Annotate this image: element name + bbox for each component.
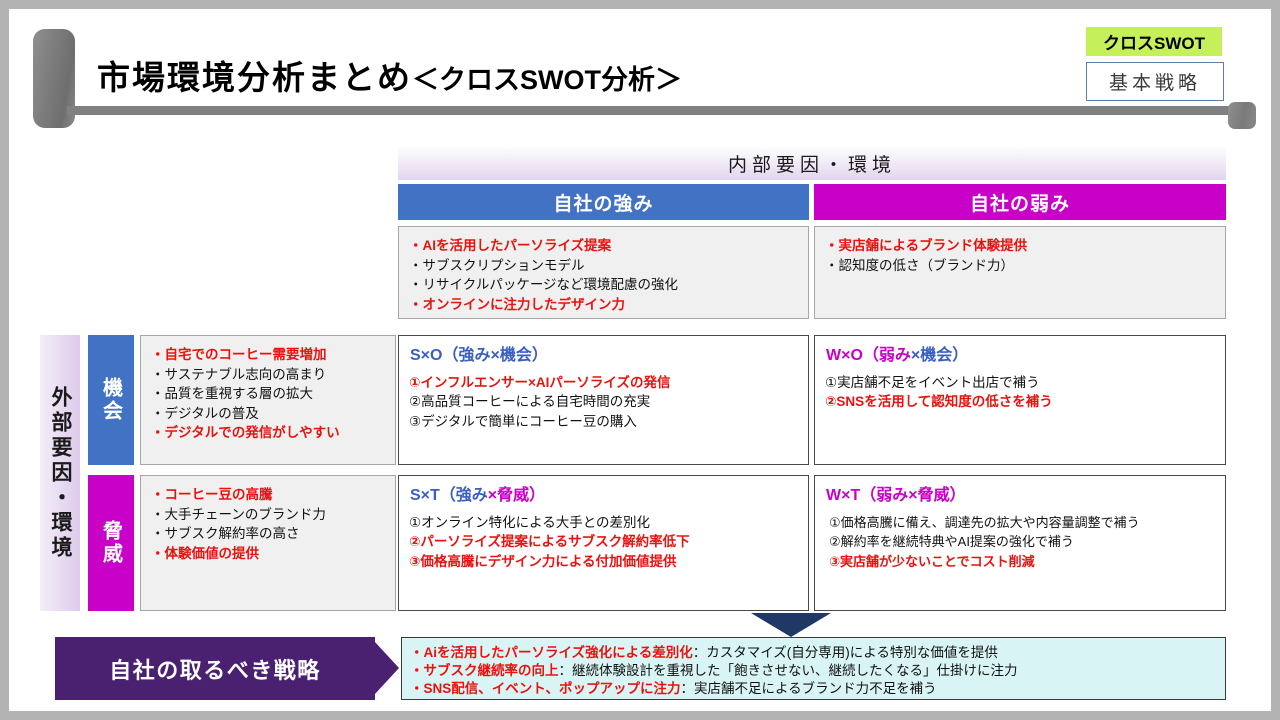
list-item: ・サブスクリプションモデル	[409, 256, 798, 276]
list-item: ③デジタルで簡単にコーヒー豆の購入	[409, 412, 798, 432]
quadrant-st-heading: S×T（強み×脅威）	[410, 486, 798, 506]
list-item: ・認知度の低さ（ブランド力）	[825, 256, 1215, 276]
header-right-knob-decoration	[1228, 102, 1256, 129]
external-axis-header-label: 外部要因・環境	[45, 386, 75, 561]
quadrant-strength-threat: S×T（強み×脅威） ①オンライン特化による大手との差別化②パーソライズ提案によ…	[398, 475, 809, 611]
quadrant-st-list: ①オンライン特化による大手との差別化②パーソライズ提案によるサブスク解約率低下③…	[409, 513, 798, 572]
quadrant-heading-secondary: ×脅威）	[488, 487, 545, 504]
cell-opportunities: ・自宅でのコーヒー需要増加・サステナブル志向の高まり・品質を重視する層の拡大・デ…	[140, 335, 396, 465]
quadrant-heading-primary: S×T（強み	[410, 487, 488, 504]
row-header-opportunity-label: 機会	[97, 377, 126, 423]
weakness-list: ・実店舗によるブランド体験提供・認知度の低さ（ブランド力）	[825, 236, 1215, 275]
page-title-main: 市場環境分析まとめ	[97, 59, 412, 96]
page-title-sub: ＜クロスSWOT分析＞	[412, 65, 682, 95]
list-item: ・リサイクルパッケージなど環境配慮の強化	[409, 275, 798, 295]
list-item: ①実店舗不足をイベント出店で補う	[825, 373, 1215, 393]
threat-list: ・コーヒー豆の高騰・大手チェーンのブランド力・サブスク解約率の高さ・体験価値の提…	[151, 485, 385, 563]
list-item: ②SNSを活用して認知度の低さを補う	[825, 392, 1215, 412]
cell-strengths: ・AIを活用したパーソライズ提案・サブスクリプションモデル・リサイクルパッケージ…	[398, 226, 809, 319]
row-header-threat: 脅威	[88, 475, 134, 611]
strategy-item-lead: ・SNS配信、イベント、ポップアップに注力	[410, 681, 681, 696]
badge-basic-strategy: 基本戦略	[1086, 62, 1224, 101]
quadrant-weakness-opportunity: W×O（弱み×機会） ①実店舗不足をイベント出店で補う②SNSを活用して認知度の…	[814, 335, 1226, 465]
quadrant-heading-primary: S×O（強み	[410, 347, 490, 364]
row-header-opportunity: 機会	[88, 335, 134, 465]
quadrant-heading-primary: W×O（弱み	[826, 347, 911, 364]
list-item: ・サステナブル志向の高まり	[151, 365, 385, 385]
external-axis-header: 外部要因・環境	[40, 335, 80, 611]
strategy-item-lead: ・サブスク継続率の向上	[410, 663, 559, 678]
quadrant-wo-heading: W×O（弱み×機会）	[826, 346, 1215, 366]
list-item: ①オンライン特化による大手との差別化	[409, 513, 798, 533]
quadrant-so-list: ①インフルエンサー×AIパーソライズの発信②高品質コーヒーによる自宅時間の充実③…	[409, 373, 798, 432]
list-item: ・AIを活用したパーソライズ提案	[409, 236, 798, 256]
cell-weaknesses: ・実店舗によるブランド体験提供・認知度の低さ（ブランド力）	[814, 226, 1226, 319]
quadrant-heading-secondary: ×機会）	[490, 347, 547, 364]
list-item: ・サブスク解約率の高さ	[151, 524, 385, 544]
page-title: 市場環境分析まとめ＜クロスSWOT分析＞	[97, 52, 997, 104]
strategy-label: 自社の取るべき戦略	[55, 637, 375, 700]
strategy-item-lead: ・Aiを活用したパーソライズ強化による差別化	[410, 645, 693, 660]
opportunity-list: ・自宅でのコーヒー需要増加・サステナブル志向の高まり・品質を重視する層の拡大・デ…	[151, 345, 385, 443]
list-item: ・品質を重視する層の拡大	[151, 384, 385, 404]
list-item: ②パーソライズ提案によるサブスク解約率低下	[409, 532, 798, 552]
quadrant-heading-primary: W×T（弱み	[826, 487, 908, 504]
list-item: ①価格高騰に備え、調達先の拡大や内容量調整で補う	[829, 513, 1215, 533]
list-item: ②高品質コーヒーによる自宅時間の充実	[409, 392, 798, 412]
strategy-arrow-icon	[375, 642, 399, 694]
quadrant-strength-opportunity: S×O（強み×機会） ①インフルエンサー×AIパーソライズの発信②高品質コーヒー…	[398, 335, 809, 465]
quadrant-heading-secondary: ×機会）	[911, 347, 968, 364]
row-header-threat-label: 脅威	[97, 520, 126, 566]
down-arrow-icon	[751, 613, 831, 637]
list-item: ・体験価値の提供	[151, 544, 385, 564]
slide-canvas: 市場環境分析まとめ＜クロスSWOT分析＞ クロスSWOT 基本戦略 内部要因・環…	[0, 0, 1280, 720]
quadrant-weakness-threat: W×T（弱み×脅威） ①価格高騰に備え、調達先の拡大や内容量調整で補う②解約率を…	[814, 475, 1226, 611]
list-item: ・オンラインに注力したデザイン力	[409, 295, 798, 315]
strategy-item: ・サブスク継続率の向上：継続体験設計を重視した「飽きさせない、継続したくなる」仕…	[410, 662, 1217, 680]
column-header-strength: 自社の強み	[398, 184, 809, 220]
strategy-item-detail: ：継続体験設計を重視した「飽きさせない、継続したくなる」仕掛けに注力	[559, 663, 1018, 678]
quadrant-so-heading: S×O（強み×機会）	[410, 346, 798, 366]
strategy-list: ・Aiを活用したパーソライズ強化による差別化：カスタマイズ(自分専用)による特別…	[410, 644, 1217, 698]
list-item: ・デジタルでの発信がしやすい	[151, 423, 385, 443]
strategy-item: ・SNS配信、イベント、ポップアップに注力：実店舗不足によるブランド力不足を補う	[410, 680, 1217, 698]
strategy-box: ・Aiを活用したパーソライズ強化による差別化：カスタマイズ(自分専用)による特別…	[401, 637, 1226, 700]
quadrant-wo-list: ①実店舗不足をイベント出店で補う②SNSを活用して認知度の低さを補う	[825, 373, 1215, 412]
strategy-item: ・Aiを活用したパーソライズ強化による差別化：カスタマイズ(自分専用)による特別…	[410, 644, 1217, 662]
header-rule-decoration	[67, 106, 1232, 115]
quadrant-wt-list: ①価格高騰に備え、調達先の拡大や内容量調整で補う②解約率を継続特典やAI提案の強…	[825, 513, 1215, 572]
list-item: ③実店舗が少ないことでコスト削減	[829, 552, 1215, 572]
list-item: ・自宅でのコーヒー需要増加	[151, 345, 385, 365]
list-item: ・実店舗によるブランド体験提供	[825, 236, 1215, 256]
quadrant-heading-secondary: ×脅威）	[908, 487, 965, 504]
list-item: ①インフルエンサー×AIパーソライズの発信	[409, 373, 798, 393]
column-header-weakness: 自社の弱み	[814, 184, 1226, 220]
slide-inner: 市場環境分析まとめ＜クロスSWOT分析＞ クロスSWOT 基本戦略 内部要因・環…	[9, 9, 1271, 711]
list-item: ③価格高騰にデザイン力による付加価値提供	[409, 552, 798, 572]
list-item: ・コーヒー豆の高騰	[151, 485, 385, 505]
list-item: ・大手チェーンのブランド力	[151, 505, 385, 525]
cell-threats: ・コーヒー豆の高騰・大手チェーンのブランド力・サブスク解約率の高さ・体験価値の提…	[140, 475, 396, 611]
strategy-item-detail: ：カスタマイズ(自分専用)による特別な価値を提供	[693, 645, 998, 660]
list-item: ・デジタルの普及	[151, 404, 385, 424]
list-item: ②解約率を継続特典やAI提案の強化で補う	[829, 532, 1215, 552]
badge-cross-swot: クロスSWOT	[1086, 27, 1222, 56]
quadrant-wt-heading: W×T（弱み×脅威）	[826, 486, 1215, 506]
internal-axis-header: 内部要因・環境	[398, 146, 1226, 180]
strategy-item-detail: ：実店舗不足によるブランド力不足を補う	[681, 681, 937, 696]
strength-list: ・AIを活用したパーソライズ提案・サブスクリプションモデル・リサイクルパッケージ…	[409, 236, 798, 314]
